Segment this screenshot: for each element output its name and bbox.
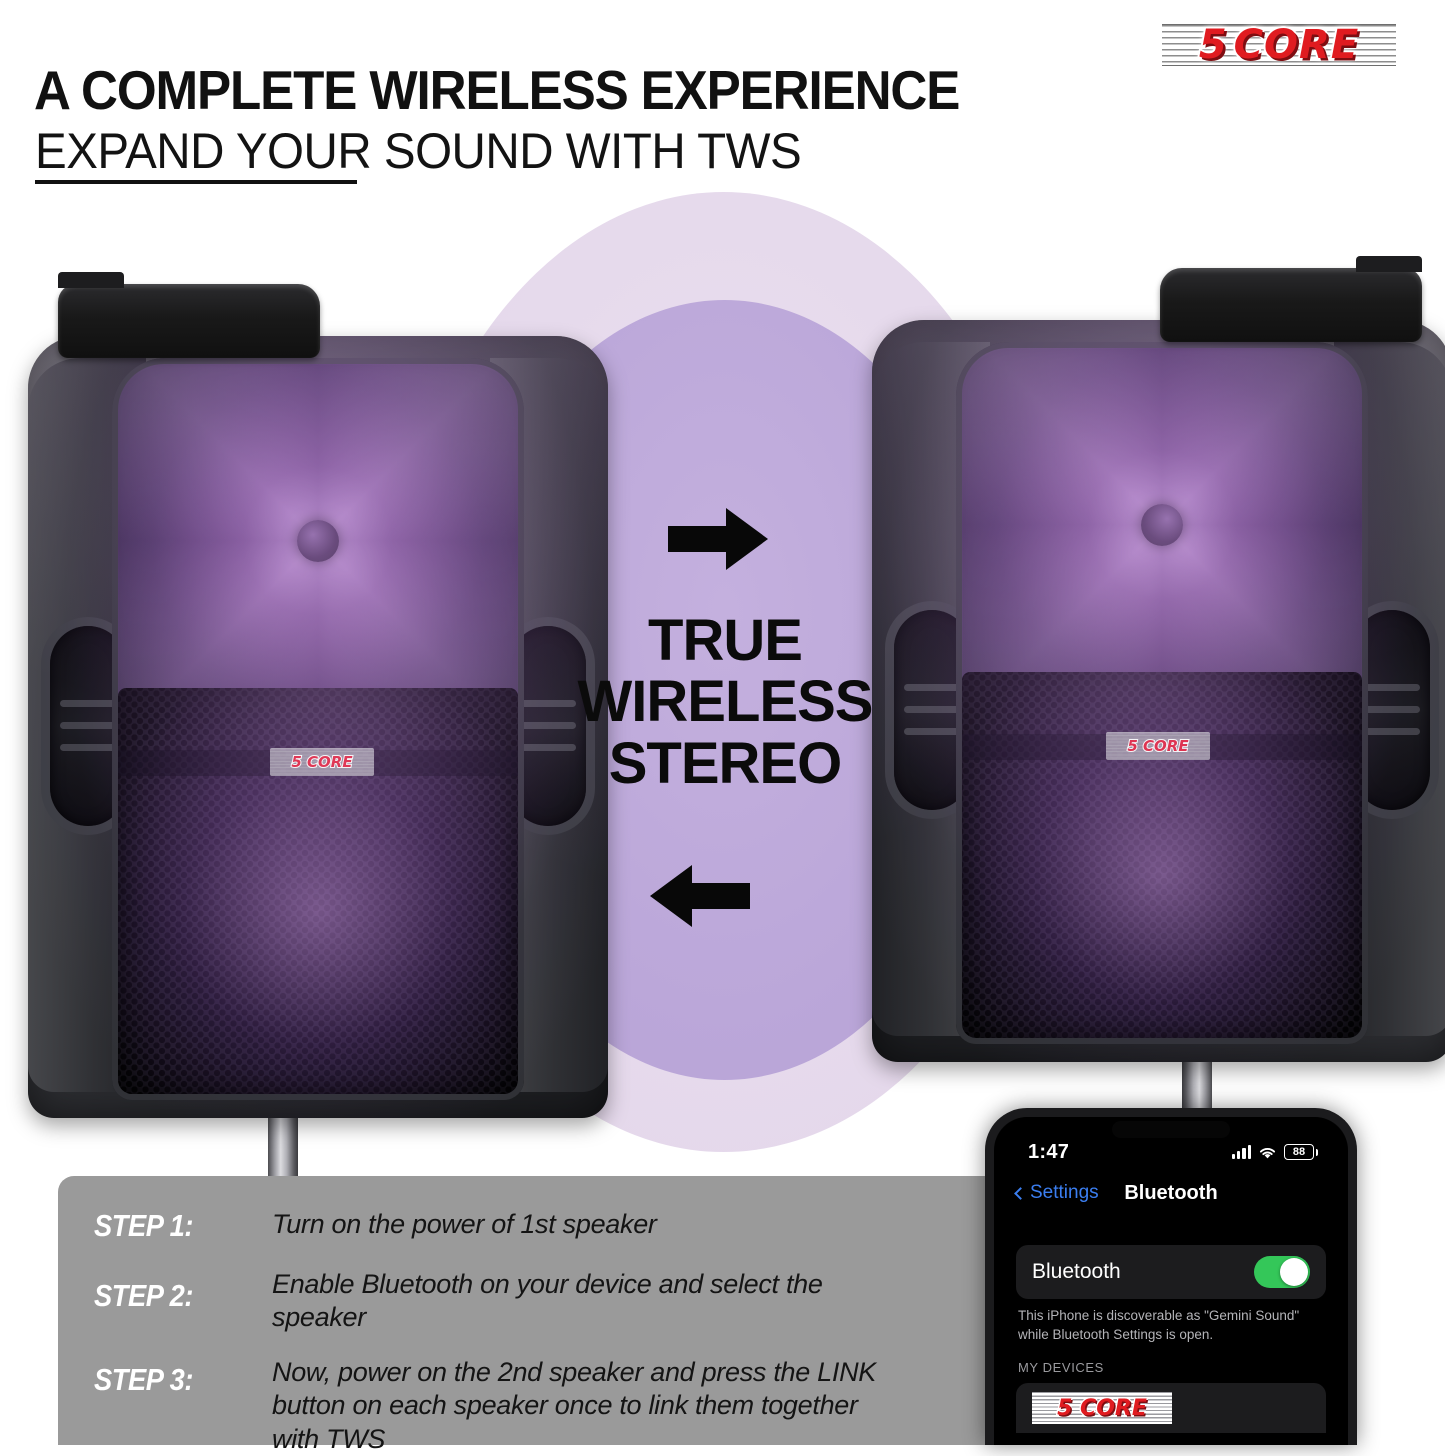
cellular-signal-icon	[1232, 1145, 1251, 1159]
phone-status-bar: 1:47 88	[994, 1137, 1348, 1167]
logo-number: 5	[1199, 22, 1228, 68]
speaker-horn-tweeter-right	[962, 348, 1362, 688]
speaker-logo-badge-left: 5 CORE	[270, 748, 374, 776]
bluetooth-toggle-switch[interactable]	[1254, 1256, 1310, 1288]
status-time: 1:47	[1028, 1141, 1069, 1164]
speaker-mesh-grille-left: 5 CORE	[118, 688, 518, 1094]
phone-page-title: Bluetooth	[1124, 1182, 1217, 1205]
callout-line-2: WIRELESS	[565, 671, 885, 732]
phone-notch	[1112, 1121, 1230, 1138]
speaker-top-handle-left	[58, 284, 320, 358]
speaker-cabinet-right: 5 CORE	[872, 320, 1445, 1062]
status-indicators: 88	[1232, 1144, 1318, 1160]
device-logo-text: 5 CORE	[1057, 1396, 1147, 1421]
speaker-mesh-grille-right: 5 CORE	[962, 672, 1362, 1038]
callout-true-wireless-stereo: TRUE WIRELESS STEREO	[565, 610, 885, 794]
device-logo-5core: 5 CORE	[1032, 1392, 1172, 1424]
arrow-left-icon	[650, 865, 750, 927]
speaker-logo-badge-right: 5 CORE	[1106, 732, 1210, 760]
step-text-1: Turn on the power of 1st speaker	[272, 1208, 657, 1241]
speaker-bezel-right: 5 CORE	[956, 342, 1368, 1044]
back-to-settings-button[interactable]: Settings	[1016, 1182, 1099, 1204]
brand-logo-5core: 5CORE	[1162, 14, 1396, 76]
back-label: Settings	[1030, 1182, 1099, 1204]
step-label-3: STEP 3:	[94, 1362, 251, 1398]
speaker-horn-tweeter-left	[118, 364, 518, 704]
speaker-bezel-left: 5 CORE	[112, 358, 524, 1100]
step-row-2: STEP 2: Enable Bluetooth on your device …	[94, 1268, 832, 1335]
toggle-knob	[1280, 1258, 1308, 1286]
step-row-3: STEP 3: Now, power on the 2nd speaker an…	[94, 1356, 892, 1456]
speaker-cabinet-left: 5 CORE	[28, 336, 608, 1118]
arrow-right-icon	[668, 508, 768, 570]
wifi-icon	[1258, 1145, 1277, 1160]
headline-primary: A COMPLETE WIRELESS EXPERIENCE	[34, 63, 959, 118]
poster-canvas: 5CORE A COMPLETE WIRELESS EXPERIENCE EXP…	[0, 0, 1445, 1445]
speaker-left: 5 CORE	[28, 278, 608, 1118]
logo-wordmark: 5CORE	[1191, 23, 1367, 67]
bluetooth-toggle-row[interactable]: Bluetooth	[1016, 1245, 1326, 1299]
phone-mockup: 1:47 88 Settings	[985, 1108, 1357, 1445]
speaker-top-handle-right	[1160, 268, 1422, 342]
step-text-3: Now, power on the 2nd speaker and press …	[272, 1356, 892, 1456]
bluetooth-row-label: Bluetooth	[1032, 1260, 1121, 1284]
step-label-2: STEP 2:	[94, 1278, 251, 1314]
phone-screen: 1:47 88 Settings	[994, 1117, 1348, 1445]
discoverable-note: This iPhone is discoverable as "Gemini S…	[1018, 1307, 1328, 1344]
step-row-1: STEP 1: Turn on the power of 1st speaker	[94, 1208, 657, 1244]
speaker-right: 5 CORE	[872, 262, 1445, 1062]
step-label-1: STEP 1:	[94, 1208, 251, 1244]
callout-line-3: STEREO	[565, 733, 885, 794]
battery-icon: 88	[1284, 1144, 1318, 1160]
phone-nav-bar: Settings Bluetooth	[994, 1173, 1348, 1213]
step-text-2: Enable Bluetooth on your device and sele…	[272, 1268, 832, 1335]
battery-percent: 88	[1284, 1144, 1314, 1160]
logo-word: CORE	[1234, 22, 1359, 68]
header-divider	[35, 180, 357, 184]
my-devices-header: MY DEVICES	[1018, 1360, 1104, 1375]
device-list-item-5core[interactable]: 5 CORE	[1016, 1383, 1326, 1433]
headline-secondary: EXPAND YOUR SOUND WITH TWS	[35, 126, 801, 176]
chevron-left-icon	[1014, 1187, 1027, 1200]
callout-line-1: TRUE	[565, 610, 885, 671]
